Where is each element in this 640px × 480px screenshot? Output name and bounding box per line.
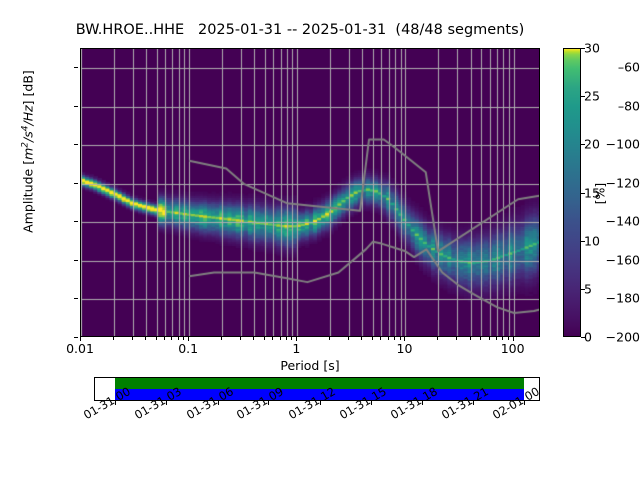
- x-tick-mark-minor: [145, 337, 146, 340]
- x-tick-mark-minor: [286, 337, 287, 340]
- x-tick-mark-minor: [171, 337, 172, 340]
- colorbar-tick-mark-1: [581, 289, 585, 290]
- x-tick-mark-minor: [470, 337, 471, 340]
- x-tick-mark-minor: [178, 337, 179, 340]
- x-tick-mark-0: [80, 337, 81, 341]
- colorbar-tick-mark-4: [581, 144, 585, 145]
- x-tick-mark-4: [513, 337, 514, 341]
- x-tick-mark-minor: [183, 337, 184, 340]
- y-tick-label-5: −160: [570, 252, 640, 267]
- y-tick-mark-5: [74, 260, 78, 261]
- x-tick-mark-minor: [113, 337, 114, 340]
- colorbar-tick-mark-2: [581, 241, 585, 242]
- y-tick-mark-0: [74, 67, 78, 68]
- y-tick-label-3: −120: [570, 175, 640, 190]
- x-tick-label-2: 1: [292, 341, 300, 356]
- ppsd-density-canvas: [81, 49, 540, 337]
- colorbar-tick-label-3: 15: [584, 185, 600, 200]
- colorbar-tick-mark-5: [581, 96, 585, 97]
- x-tick-mark-minor: [253, 337, 254, 340]
- x-tick-mark-minor: [291, 337, 292, 340]
- y-axis-ticks: [0, 0, 74, 480]
- x-tick-mark-minor: [480, 337, 481, 340]
- x-tick-label-0: 0.01: [66, 341, 94, 356]
- x-tick-mark-minor: [489, 337, 490, 340]
- x-tick-mark-minor: [361, 337, 362, 340]
- x-tick-mark-minor: [388, 337, 389, 340]
- x-tick-mark-minor: [508, 337, 509, 340]
- colorbar-tick-label-6: 30: [584, 41, 600, 56]
- x-tick-mark-minor: [502, 337, 503, 340]
- y-tick-mark-4: [74, 221, 78, 222]
- x-tick-mark-minor: [372, 337, 373, 340]
- y-tick-mark-6: [74, 298, 78, 299]
- colorbar-tick-mark-6: [581, 48, 585, 49]
- y-tick-label-1: –80: [570, 98, 640, 113]
- colorbar-tick-mark-3: [581, 193, 585, 194]
- colorbar-tick-label-5: 25: [584, 89, 600, 104]
- x-tick-mark-minor: [156, 337, 157, 340]
- y-tick-mark-2: [74, 144, 78, 145]
- x-tick-mark-minor: [264, 337, 265, 340]
- y-tick-label-6: −180: [570, 291, 640, 306]
- x-tick-mark-minor: [394, 337, 395, 340]
- x-tick-mark-minor: [400, 337, 401, 340]
- ppsd-plot-area[interactable]: [80, 48, 540, 337]
- x-tick-mark-minor: [329, 337, 330, 340]
- x-tick-mark-minor: [437, 337, 438, 340]
- y-tick-mark-3: [74, 183, 78, 184]
- y-tick-mark-1: [74, 106, 78, 107]
- x-tick-mark-3: [404, 337, 405, 341]
- x-tick-label-4: 100: [501, 341, 525, 356]
- x-tick-mark-2: [296, 337, 297, 341]
- x-tick-mark-1: [188, 337, 189, 341]
- x-tick-label-1: 0.1: [178, 341, 198, 356]
- x-tick-mark-minor: [272, 337, 273, 340]
- x-tick-mark-minor: [280, 337, 281, 340]
- x-axis-label: Period [s]: [80, 358, 540, 373]
- x-tick-mark-minor: [221, 337, 222, 340]
- x-tick-mark-minor: [348, 337, 349, 340]
- x-tick-mark-minor: [456, 337, 457, 340]
- x-tick-mark-minor: [380, 337, 381, 340]
- x-tick-label-3: 10: [397, 341, 413, 356]
- colorbar-tick-label-0: 0: [584, 330, 592, 345]
- y-tick-mark-7: [74, 337, 78, 338]
- colorbar-tick-label-1: 5: [584, 281, 592, 296]
- y-tick-label-4: −140: [570, 214, 640, 229]
- y-tick-label-0: –60: [570, 60, 640, 75]
- colorbar-tick-mark-0: [581, 337, 585, 338]
- x-tick-mark-minor: [164, 337, 165, 340]
- x-tick-mark-minor: [496, 337, 497, 340]
- ppsd-figure: BW.HROE..HHE 2025-01-31 -- 2025-01-31 (4…: [0, 0, 640, 480]
- colorbar-tick-label-2: 10: [584, 233, 600, 248]
- figure-title: BW.HROE..HHE 2025-01-31 -- 2025-01-31 (4…: [0, 22, 600, 38]
- x-tick-mark-minor: [132, 337, 133, 340]
- colorbar-tick-label-4: 20: [584, 137, 600, 152]
- x-tick-mark-minor: [240, 337, 241, 340]
